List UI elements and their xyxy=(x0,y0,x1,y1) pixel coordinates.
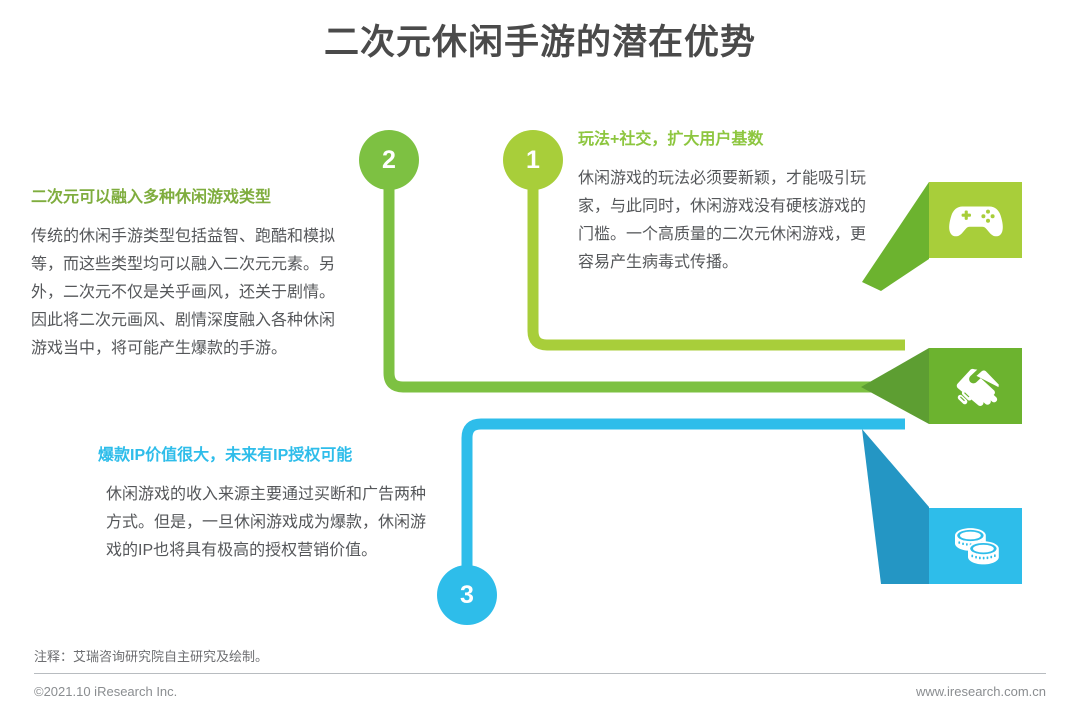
text-block-2: 二次元可以融入多种休闲游戏类型 传统的休闲手游类型包括益智、跑酷和模拟等，而这些… xyxy=(31,188,341,363)
handshake-icon xyxy=(950,365,1002,407)
block-2-body: 传统的休闲手游类型包括益智、跑酷和模拟等，而这些类型均可以融入二次元元素。另外，… xyxy=(31,223,341,363)
step-number-1[interactable]: 1 xyxy=(503,130,563,190)
block-1-heading: 玩法+社交，扩大用户基数 xyxy=(578,130,870,151)
gamepad-icon-tile xyxy=(929,182,1022,258)
connector-line-3 xyxy=(467,424,905,585)
block-3-body: 休闲游戏的收入来源主要通过买断和广告两种方式。但是，一旦休闲游戏成为爆款，休闲游… xyxy=(98,481,438,565)
text-block-1: 玩法+社交，扩大用户基数 休闲游戏的玩法必须要新颖，才能吸引玩家，与此同时，休闲… xyxy=(578,130,870,277)
footer-divider xyxy=(34,673,1046,674)
footnote: 注释：艾瑞咨询研究院自主研究及绘制。 xyxy=(34,646,268,665)
arrow-wedge-middle xyxy=(861,348,929,424)
block-3-heading: 爆款IP价值很大，未来有IP授权可能 xyxy=(98,446,438,467)
website-url: www.iresearch.com.cn xyxy=(916,684,1046,699)
coins-icon-tile xyxy=(929,508,1022,584)
step-number-2[interactable]: 2 xyxy=(359,130,419,190)
handshake-icon-tile xyxy=(929,348,1022,424)
gamepad-icon xyxy=(948,200,1004,240)
block-1-body: 休闲游戏的玩法必须要新颖，才能吸引玩家，与此同时，休闲游戏没有硬核游戏的门槛。一… xyxy=(578,165,870,277)
coins-icon xyxy=(949,524,1003,568)
step-number-3[interactable]: 3 xyxy=(437,565,497,625)
block-2-heading: 二次元可以融入多种休闲游戏类型 xyxy=(31,188,341,209)
text-block-3: 爆款IP价值很大，未来有IP授权可能 休闲游戏的收入来源主要通过买断和广告两种方… xyxy=(98,446,438,565)
copyright-text: ©2021.10 iResearch Inc. xyxy=(34,684,177,699)
arrow-wedge-top-shape xyxy=(862,182,929,291)
arrow-wedge-bottom-shape xyxy=(862,429,929,584)
